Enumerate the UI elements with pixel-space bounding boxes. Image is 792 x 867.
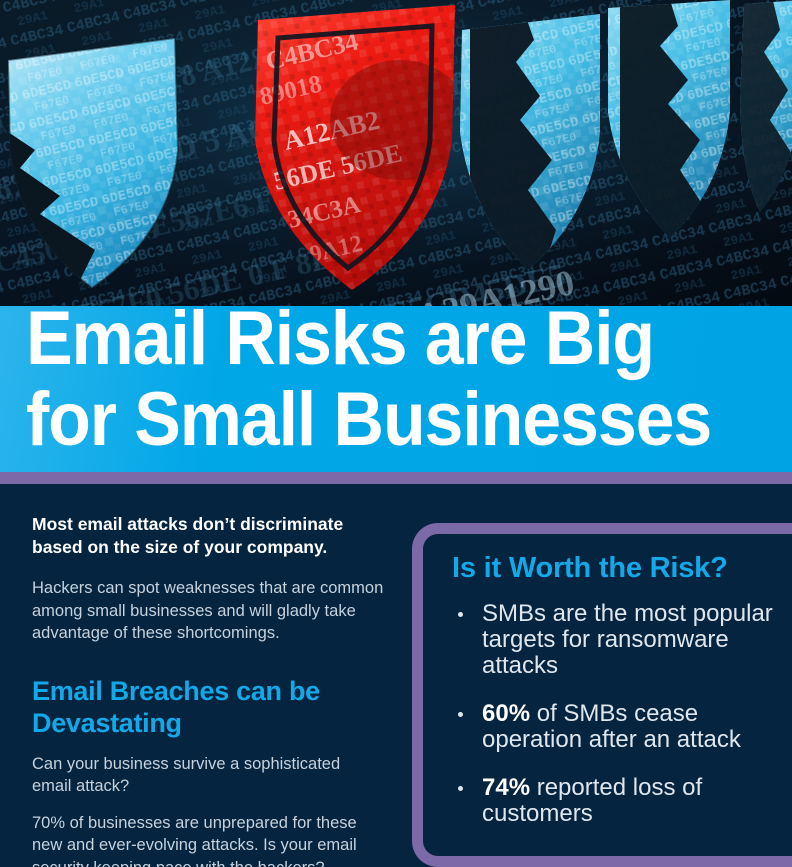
section-heading-email-breaches: Email Breaches can be Devastating <box>32 675 384 739</box>
title-banner: Email Risks are Big for Small Businesses <box>0 306 792 472</box>
worth-the-risk-card: Is it Worth the Risk? SMBs are the most … <box>412 523 792 867</box>
lead-paragraph: Most email attacks don’t discriminate ba… <box>32 513 384 559</box>
cracked-shields-illustration: C4BC34 29A1 6DE5CD F67E0 <box>0 0 792 306</box>
purple-divider <box>0 472 792 484</box>
bullet-emphasis: 74% <box>482 774 530 801</box>
hero-image: C4BC34 29A1 6DE5CD F67E0 <box>0 0 792 306</box>
list-item: 74% reported loss of customers <box>452 775 792 827</box>
content-area: Most email attacks don’t discriminate ba… <box>0 484 792 867</box>
left-text-column: Most email attacks don’t discriminate ba… <box>32 513 384 867</box>
infographic-page: C4BC34 29A1 6DE5CD F67E0 <box>0 0 792 867</box>
paragraph-hackers: Hackers can spot weaknesses that are com… <box>32 577 384 645</box>
bullet-dot-icon <box>458 612 463 617</box>
bullet-dot-icon <box>458 712 463 717</box>
card-heading: Is it Worth the Risk? <box>452 551 792 585</box>
paragraph-survive: Can your business survive a sophisticate… <box>32 753 384 798</box>
bullet-text: SMBs are the most popular targets for ra… <box>482 600 773 679</box>
bullet-emphasis: 60% <box>482 700 530 727</box>
page-title: Email Risks are Big for Small Businesses <box>26 306 725 460</box>
paragraph-unprepared: 70% of businesses are unprepared for the… <box>32 812 384 867</box>
risk-bullet-list: SMBs are the most popular targets for ra… <box>452 601 792 827</box>
list-item: SMBs are the most popular targets for ra… <box>452 601 792 679</box>
list-item: 60% of SMBs cease operation after an att… <box>452 701 792 753</box>
bullet-dot-icon <box>458 786 463 791</box>
